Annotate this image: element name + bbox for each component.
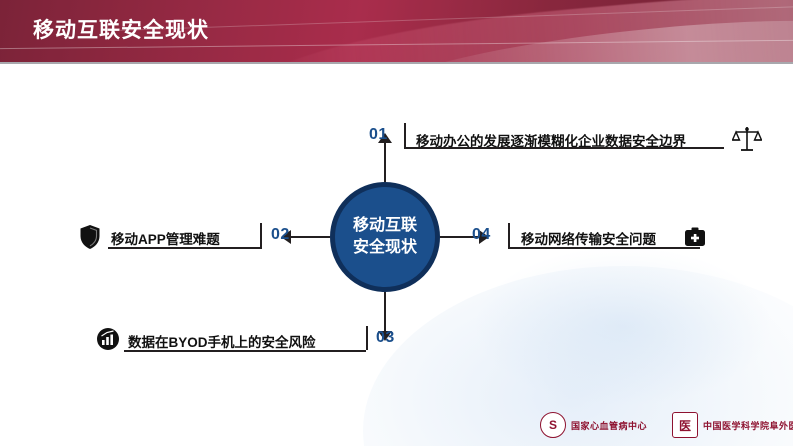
item-text-02: 移动APP管理难题 [111,228,220,248]
shield-icon [79,224,101,255]
item-underline-03 [124,350,366,352]
page-title: 移动互联安全现状 [33,14,209,44]
first-aid-kit-icon [684,226,706,253]
item-underline-04 [508,247,700,249]
chart-growth-circle-icon [96,327,120,356]
item-text-04: 移动网络传输安全问题 [521,228,656,248]
item-underline-01 [404,147,724,149]
arrow-down-line [384,292,386,334]
item-number-04: 04 [472,226,491,244]
item-number-01: 01 [369,126,388,144]
footer-logo-left: S 国家心血管病中心 [540,412,647,438]
item-divider-03 [366,326,368,350]
item-divider-02 [260,223,262,247]
center-hub: 移动互联 安全现状 [330,182,440,292]
item-text-03: 数据在BYOD手机上的安全风险 [128,331,316,351]
item-number-02: 02 [271,226,290,244]
arrow-left-line [288,236,330,238]
arrow-up-line [384,140,386,182]
item-divider-01 [404,123,406,147]
footer-logo-mark-right: 医 [672,412,698,438]
item-underline-02 [108,247,262,249]
footer-logo-label-left: 国家心血管病中心 [571,419,647,432]
slide-canvas: 移动互联安全现状 移动互联 安全现状 01 移动办公的发展逐渐模糊化企业数据安全… [0,0,793,446]
footer-logo-mark-left: S [540,412,566,438]
item-divider-04 [508,223,510,247]
scales-balance-icon [732,124,762,159]
background-glow-2 [473,246,773,406]
item-number-03: 03 [376,329,395,347]
footer-logo-label-right: 中国医学科学院阜外医院 [703,419,793,432]
header-underline [0,62,793,64]
center-hub-line-2: 安全现状 [353,237,417,259]
center-hub-line-1: 移动互联 [353,215,417,237]
footer-logo-right: 医 中国医学科学院阜外医院 [672,412,793,438]
